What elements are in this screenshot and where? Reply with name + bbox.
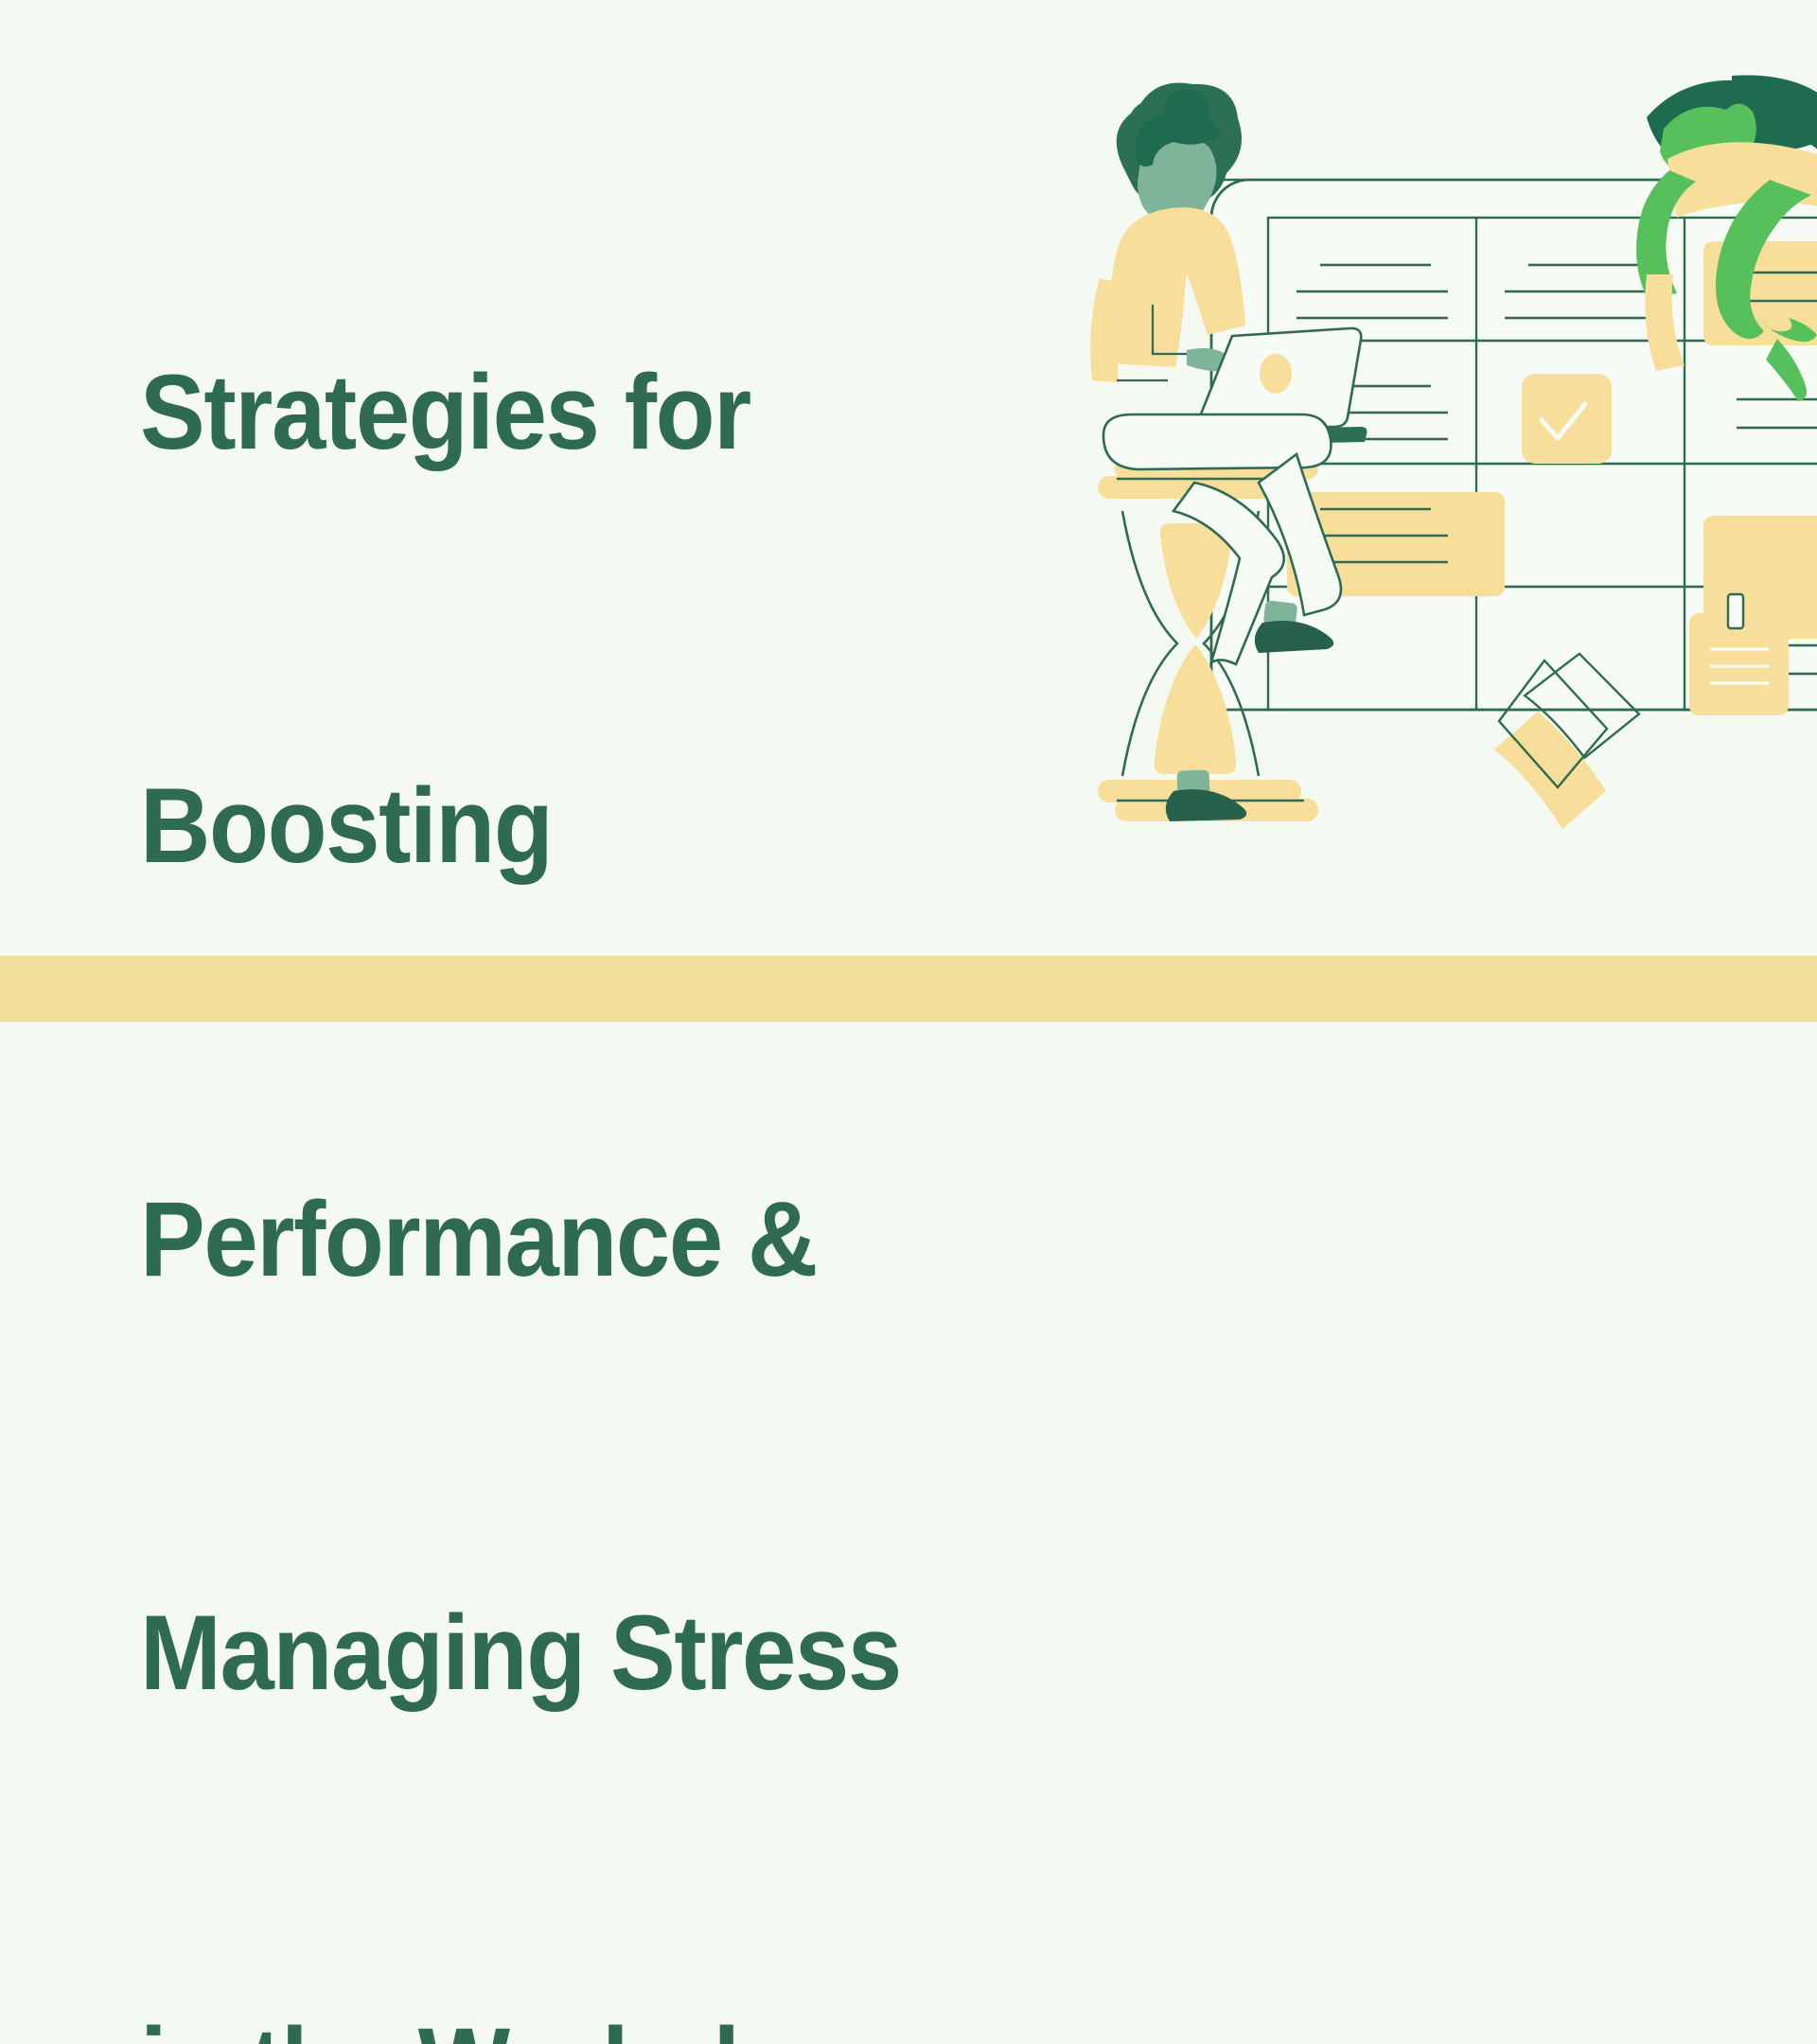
title-line-4: Managing Stress [140, 1584, 1019, 1722]
checked-task-note[interactable] [1522, 374, 1612, 464]
title-line-3: Performance & [140, 1171, 1019, 1309]
page-title: Strategies for Boosting Performance & Ma… [140, 68, 1019, 2044]
title-line-1: Strategies for [140, 344, 1019, 482]
workplace-productivity-illustration [984, 38, 1817, 871]
laptop-logo-icon [1260, 354, 1292, 394]
title-line-2: Boosting [140, 757, 1019, 895]
footer-accent-bar [0, 956, 1817, 1022]
slide-canvas: Strategies for Boosting Performance & Ma… [0, 0, 1817, 1022]
title-line-5: in the Workplace [140, 1997, 1019, 2044]
